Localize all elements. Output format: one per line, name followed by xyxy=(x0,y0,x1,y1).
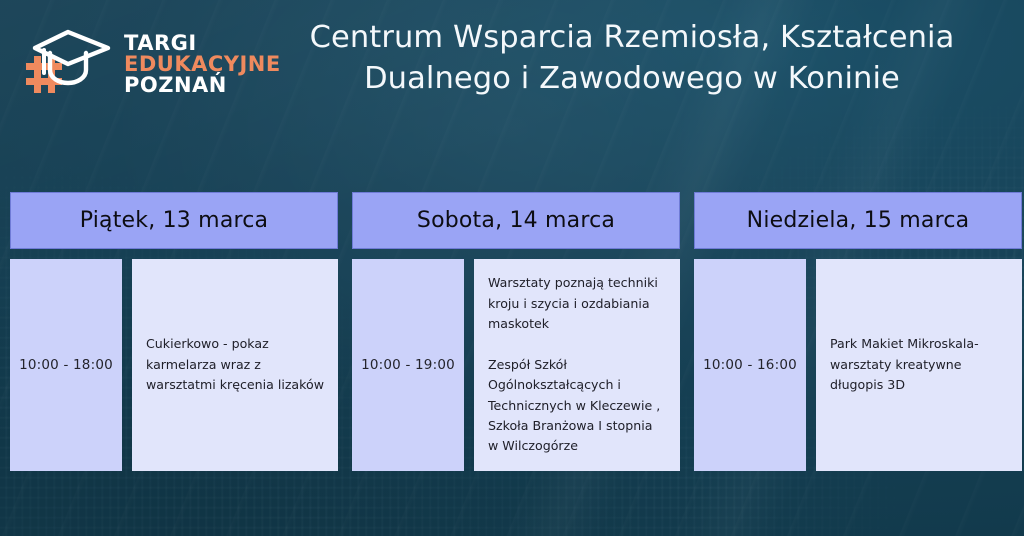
slot-description-sunday: Park Makiet Mikroskala- warsztaty kreaty… xyxy=(816,259,1022,471)
day-column-saturday: Sobota, 14 marca 10:00 - 19:00 Warsztaty… xyxy=(352,192,680,471)
day-header-saturday: Sobota, 14 marca xyxy=(352,192,680,249)
table-row: 10:00 - 18:00 Cukierkowo - pokaz karmela… xyxy=(10,259,338,471)
slot-description-friday: Cukierkowo - pokaz karmelarza wraz z war… xyxy=(132,259,338,471)
day-header-friday: Piątek, 13 marca xyxy=(10,192,338,249)
slot-time-saturday: 10:00 - 19:00 xyxy=(352,259,464,471)
page-title: Centrum Wsparcia Rzemiosła, Kształcenia … xyxy=(256,18,1008,99)
slot-time-sunday: 10:00 - 16:00 xyxy=(694,259,806,471)
slot-time-friday: 10:00 - 18:00 xyxy=(10,259,122,471)
schedule-table: Piątek, 13 marca 10:00 - 18:00 Cukierkow… xyxy=(10,192,1016,471)
day-header-sunday: Niedziela, 15 marca xyxy=(694,192,1022,249)
day-column-sunday: Niedziela, 15 marca 10:00 - 16:00 Park M… xyxy=(694,192,1022,471)
day-column-friday: Piątek, 13 marca 10:00 - 18:00 Cukierkow… xyxy=(10,192,338,471)
graduation-cap-hash-icon xyxy=(22,26,114,100)
event-poster: TARGI EDUKACYJNE POZNAŃ Centrum Wsparcia… xyxy=(0,0,1024,536)
targi-edukacyjne-logo: TARGI EDUKACYJNE POZNAŃ xyxy=(22,22,254,104)
slot-description-saturday: Warsztaty poznają techniki kroju i szyci… xyxy=(474,259,680,471)
table-row: 10:00 - 19:00 Warsztaty poznają techniki… xyxy=(352,259,680,471)
table-row: 10:00 - 16:00 Park Makiet Mikroskala- wa… xyxy=(694,259,1022,471)
